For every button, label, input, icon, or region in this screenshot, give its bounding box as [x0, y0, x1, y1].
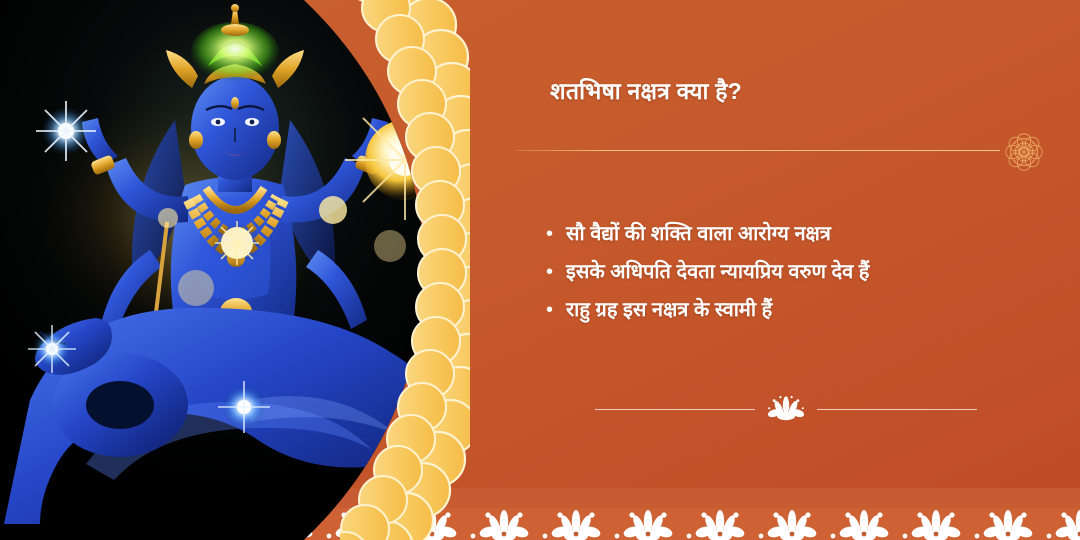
- list-item: • इसके अधिपति देवता न्यायप्रिय वरुण देव …: [546, 257, 1066, 295]
- content-column: शतभिषा नक्षत्र क्या है?: [500, 0, 1080, 540]
- varuna-deity-illustration: [0, 0, 470, 540]
- slide-canvas: शतभिषा नक्षत्र क्या है?: [0, 0, 1080, 540]
- bullet-marker: •: [546, 257, 566, 287]
- image-panel-clip: [0, 0, 470, 540]
- page-title: शतभिषा नक्षत्र क्या है?: [550, 74, 1040, 106]
- list-item-label: सौ वैद्यों की शक्ति वाला आरोग्य नक्षत्र: [566, 219, 831, 249]
- divider-line-left: [595, 409, 755, 410]
- title-rule: [516, 150, 1016, 152]
- image-panel: [0, 0, 470, 540]
- bullet-list: • सौ वैद्यों की शक्ति वाला आरोग्य नक्षत्…: [546, 219, 1066, 333]
- list-item-label: इसके अधिपति देवता न्यायप्रिय वरुण देव है…: [566, 257, 869, 287]
- divider-line-right: [817, 409, 977, 410]
- horizontal-rule: [516, 150, 1000, 151]
- lotus-flower-icon: [765, 394, 807, 424]
- lotus-divider: [560, 392, 1012, 426]
- mandala-rosette-icon: [998, 126, 1050, 178]
- list-item: • राहु ग्रह इस नक्षत्र के स्वामी हैं: [546, 295, 1066, 333]
- bullet-marker: •: [546, 295, 566, 325]
- list-item-label: राहु ग्रह इस नक्षत्र के स्वामी हैं: [566, 295, 772, 325]
- bullet-marker: •: [546, 219, 566, 249]
- list-item: • सौ वैद्यों की शक्ति वाला आरोग्य नक्षत्…: [546, 219, 1066, 257]
